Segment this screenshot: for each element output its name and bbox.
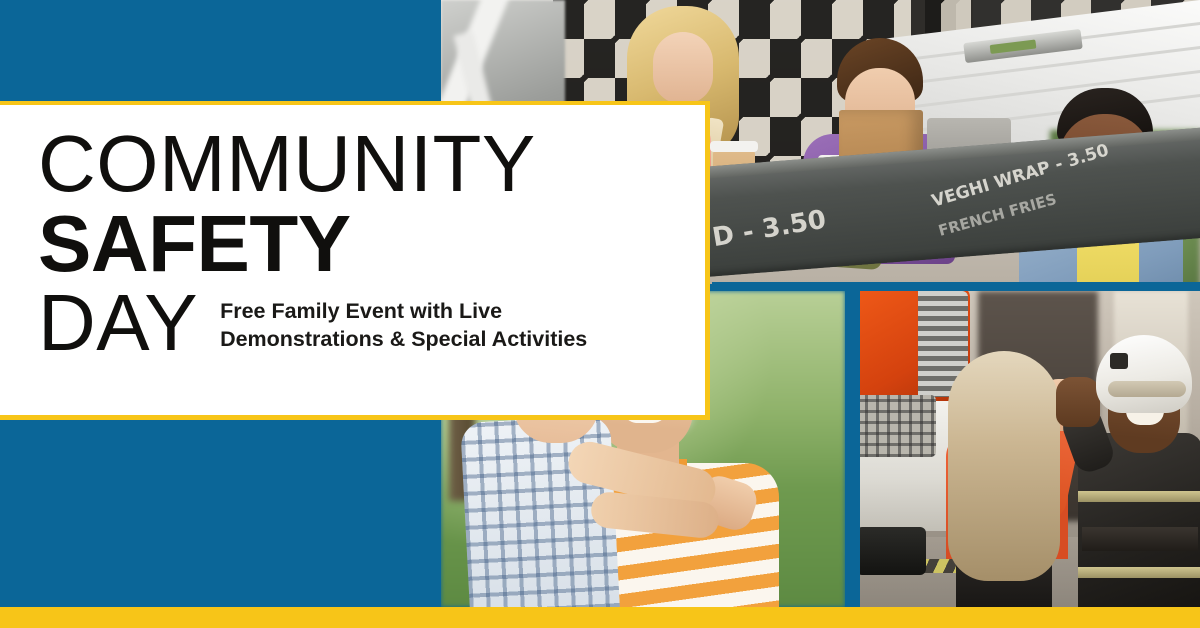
raised-hand [1056,377,1100,427]
long-hair [948,351,1060,581]
headline-bottom-row: DAY Free Family Event with Live Demonstr… [38,286,587,360]
awning-rib [880,70,1200,112]
headline-text-block: COMMUNITY SAFETY DAY Free Family Event w… [38,127,587,360]
page-title-line-2: SAFETY [38,207,587,281]
chalk-price-line: D - 3.50 [710,205,828,254]
photo-firefighter-highfive [860,291,1200,607]
utility-belt [1082,527,1198,551]
page-title-line-1: COMMUNITY [38,127,587,201]
headline-card: COMMUNITY SAFETY DAY Free Family Event w… [0,101,710,420]
truck-wheel [860,527,926,575]
page-title-line-3: DAY [38,286,198,360]
face [653,32,713,104]
headlight-guard [860,395,936,457]
reflective-stripe [1078,567,1200,578]
subtitle-text: Free Family Event with Live Demonstratio… [220,297,587,354]
helmet-badge [1110,353,1128,369]
cup-lid [710,141,758,152]
community-safety-day-poster: D - 3.50 VEGHI WRAP - 3.50 FRENCH FRIES [0,0,1200,628]
bottom-accent-bar [0,607,1200,628]
reflective-stripe [1078,491,1200,502]
divider-horizontal-blue [712,282,1200,291]
divider-vertical-blue [845,290,860,607]
